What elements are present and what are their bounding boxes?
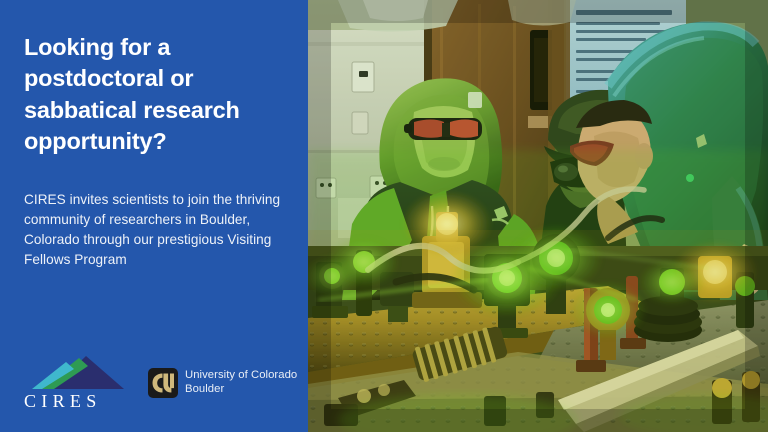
cires-logo: CIRES bbox=[24, 356, 126, 410]
left-text-panel: Looking for a postdoctoral or sabbatical… bbox=[0, 0, 308, 432]
subhead-paragraph: CIRES invites scientists to join the thr… bbox=[24, 190, 286, 270]
lab-photo-illustration bbox=[308, 0, 768, 432]
cires-mountain-icon bbox=[32, 356, 124, 389]
cires-wordmark: CIRES bbox=[24, 392, 126, 410]
cu-monogram-icon bbox=[148, 368, 178, 398]
cu-boulder-wordmark: University of Colorado Boulder bbox=[185, 369, 297, 397]
cu-boulder-logo: University of Colorado Boulder bbox=[148, 368, 297, 398]
logo-lockup: CIRES University of Colorado Boulder bbox=[24, 356, 297, 410]
page-title: Looking for a postdoctoral or sabbatical… bbox=[24, 32, 292, 157]
lab-photo bbox=[308, 0, 768, 432]
promo-banner: Looking for a postdoctoral or sabbatical… bbox=[0, 0, 768, 432]
